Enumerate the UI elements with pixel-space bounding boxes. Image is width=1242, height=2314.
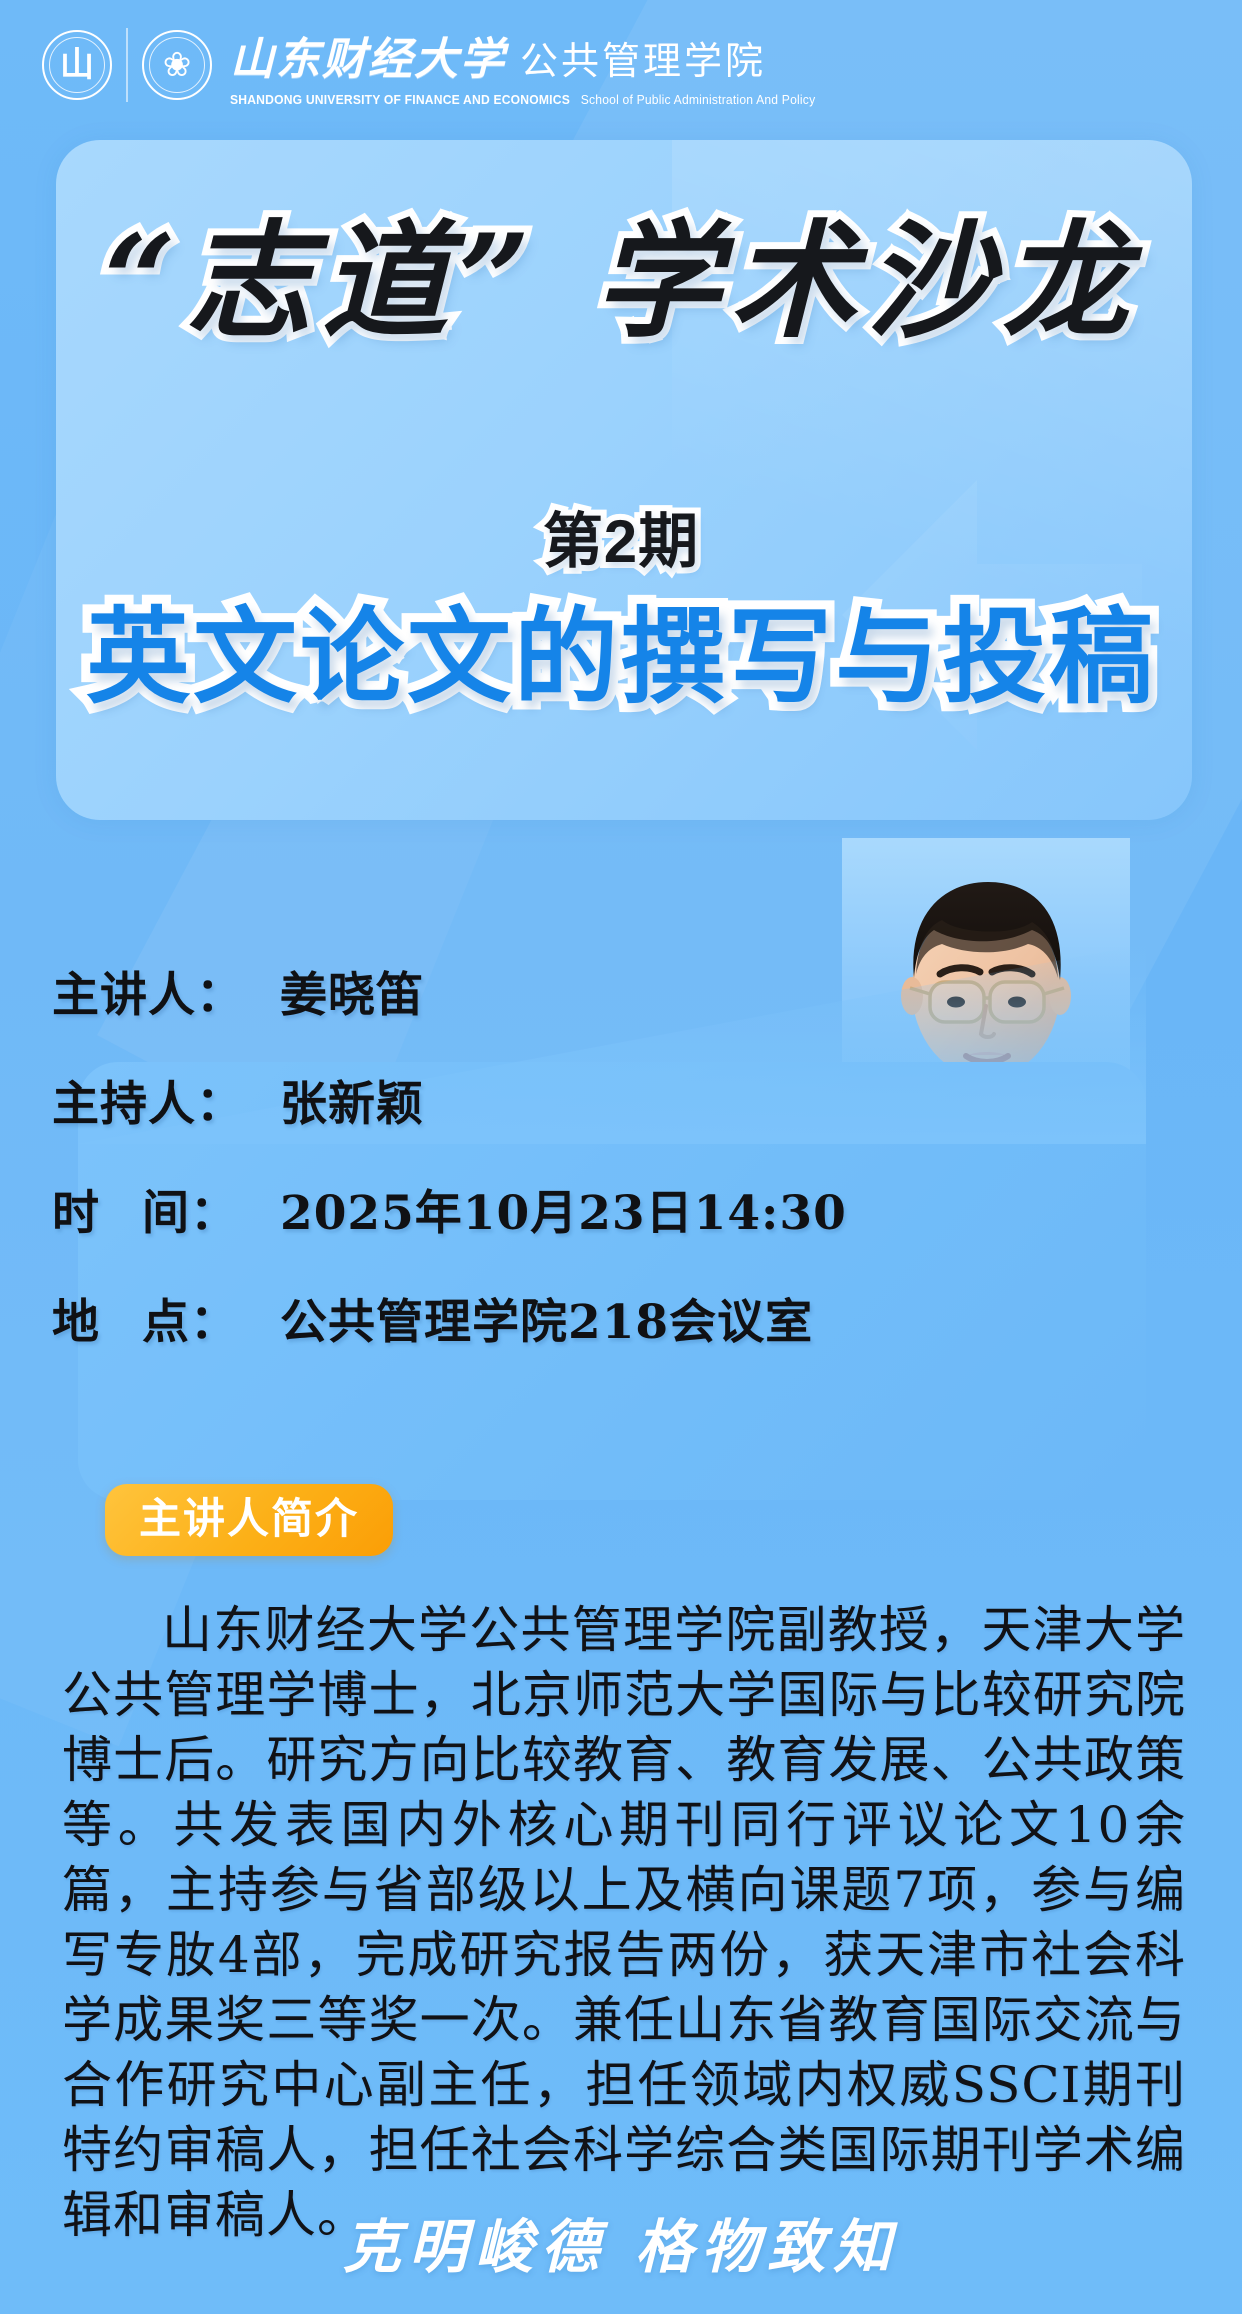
info-value-host: 张新颖 (280, 1081, 424, 1128)
university-name-cn: 山东财经大学 (230, 23, 506, 87)
poster-canvas: 山 ❀ 山东财经大学 公共管理学院 SHANDONG UNIVERSITY OF… (0, 0, 1242, 2314)
info-value-time: 2025年10月23日14:30 (280, 1190, 847, 1237)
info-label-time: 时间： (52, 1190, 280, 1237)
crest-left-mark: 山 (60, 48, 94, 82)
info-row-time: 时间： 2025年10月23日14:30 (52, 1190, 952, 1237)
school-crest-icon: ❀ (142, 30, 212, 100)
institution-logo-group: 山 ❀ 山东财经大学 公共管理学院 SHANDONG UNIVERSITY OF… (42, 23, 833, 107)
university-name-en: SHANDONG UNIVERSITY OF FINANCE AND ECONO… (230, 93, 570, 107)
event-info-list: 主讲人： 姜晓笛 主持人： 张新颖 时间： 2025年10月23日14:30 地… (52, 972, 952, 1346)
wordmark-chinese-line: 山东财经大学 公共管理学院 (230, 23, 833, 87)
info-row-speaker: 主讲人： 姜晓笛 (52, 972, 952, 1019)
info-label-time-prefix: 时 (52, 1186, 100, 1241)
info-value-speaker: 姜晓笛 (280, 972, 424, 1019)
crest-right-mark: ❀ (163, 48, 192, 82)
topic-title: 英文论文的撰写与投稿 (0, 600, 1242, 716)
info-row-location: 地点： 公共管理学院218会议室 (52, 1299, 952, 1346)
info-label-time-suffix: 间： (142, 1186, 238, 1241)
speaker-bio-badge: 主讲人简介 (105, 1484, 393, 1556)
crest-divider (126, 28, 128, 102)
institution-wordmark: 山东财经大学 公共管理学院 SHANDONG UNIVERSITY OF FIN… (230, 23, 833, 107)
series-title: “志道” 学术沙龙 (0, 218, 1242, 344)
info-row-host: 主持人： 张新颖 (52, 1081, 952, 1128)
poster-header: 山 ❀ 山东财经大学 公共管理学院 SHANDONG UNIVERSITY OF… (0, 0, 1242, 130)
speaker-bio-paragraph: 山东财经大学公共管理学院副教授，天津大学公共管理学博士，北京师范大学国际与比较研… (62, 1598, 1186, 2248)
info-label-speaker: 主讲人： (52, 972, 280, 1019)
info-value-location: 公共管理学院218会议室 (280, 1299, 813, 1346)
university-motto: 克明峻德 格物致知 (0, 2200, 1242, 2284)
wordmark-english-line: SHANDONG UNIVERSITY OF FINANCE AND ECONO… (230, 93, 815, 107)
info-label-location-prefix: 地 (52, 1295, 100, 1350)
school-name-en: School of Public Administration And Poli… (581, 93, 816, 107)
university-crest-icon: 山 (42, 30, 112, 100)
info-label-host: 主持人： (52, 1081, 280, 1128)
info-label-location: 地点： (52, 1299, 280, 1346)
info-label-location-suffix: 点： (142, 1295, 238, 1350)
issue-number: 第2期 (0, 512, 1242, 572)
school-name-cn: 公共管理学院 (520, 30, 766, 85)
